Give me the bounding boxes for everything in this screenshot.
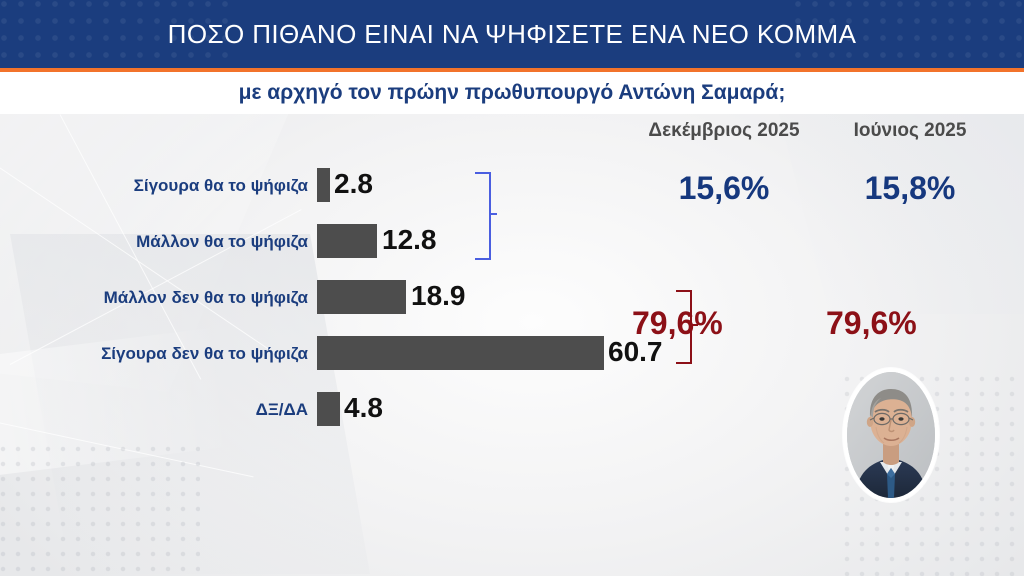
dot-pattern-bottom-left-icon	[0, 446, 200, 576]
bracket-negative	[676, 290, 692, 364]
bar-4	[317, 392, 340, 426]
bracket-positive-tick	[489, 213, 497, 215]
bracket-negative-tick	[690, 324, 698, 326]
bar-label-2: Μάλλον δεν θα το ψήφιζα	[8, 288, 308, 308]
bar-value-1: 12.8	[382, 224, 437, 256]
bar-3	[317, 336, 604, 370]
page-title: ΠΟΣΟ ΠΙΘΑΝΟ ΕΙΝΑΙ ΝΑ ΨΗΦΙΣΕΤΕ ΕΝΑ ΝΕΟ ΚΟ…	[0, 0, 1024, 68]
summary-negative-june: 79,6%	[826, 305, 1006, 342]
bar-value-2: 18.9	[411, 280, 466, 312]
portrait-photo	[847, 372, 935, 498]
page-subtitle: με αρχηγό τον πρώην πρωθυπουργό Αντώνη Σ…	[0, 72, 1024, 114]
bar-2	[317, 280, 406, 314]
bar-0	[317, 168, 330, 202]
column-header-june: Ιούνιος 2025	[820, 120, 1000, 142]
bg-polygon	[779, 114, 1024, 314]
poll-graphic: ΠΟΣΟ ΠΙΘΑΝΟ ΕΙΝΑΙ ΝΑ ΨΗΦΙΣΕΤΕ ΕΝΑ ΝΕΟ ΚΟ…	[0, 0, 1024, 576]
bar-value-3: 60.7	[608, 336, 663, 368]
bar-label-3: Σίγουρα δεν θα το ψήφιζα	[8, 344, 308, 364]
summary-positive-december: 15,6%	[628, 170, 820, 207]
bracket-positive	[475, 172, 491, 260]
bar-label-4: ΔΞ/ΔΑ	[8, 400, 308, 420]
bar-value-0: 2.8	[334, 168, 373, 200]
bar-label-0: Σίγουρα θα το ψήφιζα	[8, 176, 308, 196]
summary-positive-june: 15,8%	[820, 170, 1000, 207]
avatar	[843, 368, 939, 502]
bar-1	[317, 224, 377, 258]
bar-label-1: Μάλλον θα το ψήφιζα	[8, 232, 308, 252]
column-header-december: Δεκέμβριος 2025	[628, 120, 820, 142]
bar-value-4: 4.8	[344, 392, 383, 424]
